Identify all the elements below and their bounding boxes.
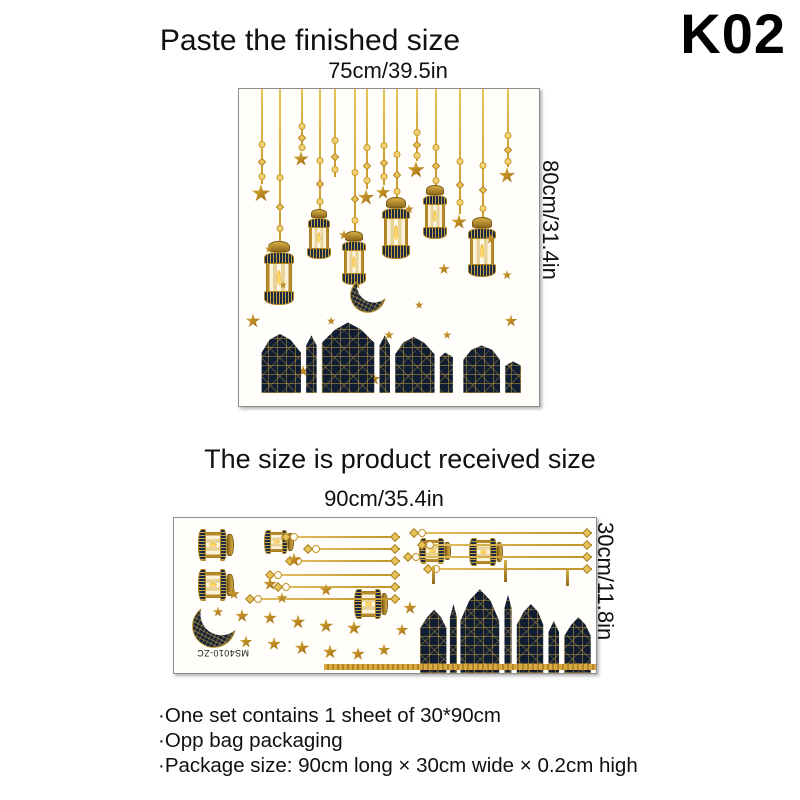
star-icon [396, 624, 409, 637]
string-bead [316, 180, 324, 188]
sheet-code-label: MS4010-ZC [197, 648, 249, 658]
string-bead [413, 129, 420, 136]
hanging-string [416, 89, 418, 161]
string-bead [413, 141, 421, 149]
string-bead [380, 173, 387, 180]
string-bead [479, 162, 486, 169]
star-icon [252, 184, 271, 203]
string-bead [316, 157, 323, 164]
hanging-string [279, 89, 281, 244]
rule-diamond [582, 540, 592, 550]
ornament-rule [418, 544, 592, 546]
star-icon [319, 619, 334, 634]
string-bead [432, 162, 440, 170]
rule-diamond [390, 532, 400, 542]
string-bead [456, 180, 464, 188]
minaret-pole [504, 560, 507, 582]
rule-dot [282, 583, 290, 591]
star-icon [235, 609, 249, 623]
string-bead [351, 169, 358, 176]
ornament-rule [266, 574, 400, 576]
rule-diamond [390, 582, 400, 592]
star-icon [403, 601, 417, 615]
string-bead [331, 153, 339, 161]
string-bead [393, 188, 400, 195]
finished-width-label: 75cm/39.5in [238, 58, 538, 84]
crescent-moon-icon [186, 598, 241, 653]
finished-size-preview-panel [238, 88, 540, 407]
sheet-base-strip [324, 664, 596, 670]
lantern-icon [381, 197, 411, 253]
finished-artwork [239, 89, 539, 406]
string-bead [351, 195, 359, 203]
star-icon [291, 615, 306, 630]
star-icon [347, 621, 362, 636]
star-icon [358, 189, 375, 206]
string-bead [351, 217, 358, 224]
ornament-rule [282, 536, 400, 538]
lantern-icon [270, 529, 294, 555]
rule-diamond [582, 552, 592, 562]
string-bead [380, 159, 388, 167]
rule-dot [254, 595, 262, 603]
mosque-silhouette [420, 580, 596, 673]
rule-diamond [390, 556, 400, 566]
string-bead [380, 142, 387, 149]
ornament-rule [286, 560, 400, 562]
product-spec-image: Paste the finished size K02 75cm/39.5in … [0, 0, 800, 800]
star-icon [502, 270, 512, 280]
lantern-icon [204, 528, 234, 562]
string-bead [363, 177, 370, 184]
string-bead [258, 141, 265, 148]
mosque-skyline [420, 580, 596, 673]
string-bead [258, 173, 265, 180]
star-icon [407, 161, 425, 179]
decal-sheet-panel: MS4010-ZC [173, 517, 597, 674]
rule-dot [290, 533, 298, 541]
string-bead [298, 123, 305, 130]
string-bead [298, 134, 306, 142]
string-bead [432, 177, 439, 184]
star-icon [240, 636, 253, 649]
string-bead [276, 225, 283, 232]
minaret-pole [432, 566, 435, 584]
rule-dot [274, 571, 282, 579]
rule-dot [312, 545, 320, 553]
lantern-icon [422, 185, 448, 233]
hanging-string [482, 89, 484, 221]
hanging-string [261, 89, 263, 184]
rule-diamond [303, 544, 313, 554]
hanging-string [334, 89, 336, 177]
detail-line-1: ·One set contains 1 sheet of 30*90cm [158, 703, 638, 728]
package-details-list: ·One set contains 1 sheet of 30*90cm ·Op… [158, 703, 638, 778]
sheet-width-label: 90cm/35.4in [173, 486, 595, 512]
rule-diamond [390, 544, 400, 554]
lantern-icon [341, 231, 367, 279]
rule-dot [418, 529, 426, 537]
string-bead [363, 162, 371, 170]
ornament-rule [404, 556, 592, 558]
string-bead [456, 158, 463, 165]
string-bead [393, 151, 400, 158]
star-icon [451, 214, 467, 230]
string-bead [504, 132, 511, 139]
hanging-string [366, 89, 368, 189]
string-bead [258, 158, 266, 166]
star-icon [295, 641, 310, 656]
lantern-icon [360, 588, 388, 620]
rule-diamond [403, 552, 413, 562]
string-bead [363, 144, 370, 151]
string-bead [298, 144, 305, 151]
page-title: Paste the finished size [0, 24, 620, 58]
rule-diamond [273, 582, 283, 592]
hanging-string [507, 89, 509, 167]
string-bead [479, 205, 486, 212]
star-icon [293, 151, 309, 167]
star-icon [267, 637, 281, 651]
rule-diamond [409, 528, 419, 538]
string-bead [479, 185, 487, 193]
string-bead [504, 158, 511, 165]
star-icon [323, 645, 338, 660]
rule-diamond [245, 594, 255, 604]
received-size-title: The size is product received size [0, 444, 800, 475]
lantern-icon [475, 537, 503, 567]
star-icon [438, 263, 450, 275]
ornament-rule [274, 586, 400, 588]
string-bead [504, 145, 512, 153]
detail-line-3: ·Package size: 90cm long × 30cm wide × 0… [158, 753, 638, 778]
string-bead [413, 152, 420, 159]
product-code-badge: K02 [680, 6, 786, 62]
hanging-string [319, 89, 321, 213]
rule-diamond [582, 564, 592, 574]
hanging-string [383, 89, 385, 185]
rule-dot [426, 541, 434, 549]
hanging-string [435, 89, 437, 189]
rule-diamond [390, 570, 400, 580]
detail-line-2: ·Opp bag packaging [158, 728, 638, 753]
string-bead [456, 199, 463, 206]
string-bead [331, 137, 338, 144]
star-icon [263, 611, 277, 625]
mosque-skyline [259, 321, 521, 393]
finished-height-label: 80cm/31.4in [537, 160, 563, 280]
minaret-pole [566, 570, 569, 586]
star-icon [499, 167, 516, 184]
star-icon [378, 644, 391, 657]
lantern-icon [307, 209, 331, 253]
hanging-string [459, 89, 461, 214]
string-bead [276, 202, 284, 210]
string-bead [276, 174, 283, 181]
string-bead [331, 166, 338, 173]
rule-dot [412, 553, 420, 561]
string-bead [393, 171, 401, 179]
rule-diamond [390, 594, 400, 604]
string-bead [316, 198, 323, 205]
mosque-silhouette [259, 321, 521, 393]
ornament-rule [246, 598, 400, 600]
rule-diamond [582, 528, 592, 538]
hanging-string [354, 89, 356, 234]
star-icon [415, 301, 424, 310]
ornament-rule [410, 532, 592, 534]
string-bead [432, 144, 439, 151]
lantern-icon [204, 568, 234, 602]
lantern-icon [467, 217, 497, 271]
star-icon [351, 647, 365, 661]
hanging-string [396, 89, 398, 201]
